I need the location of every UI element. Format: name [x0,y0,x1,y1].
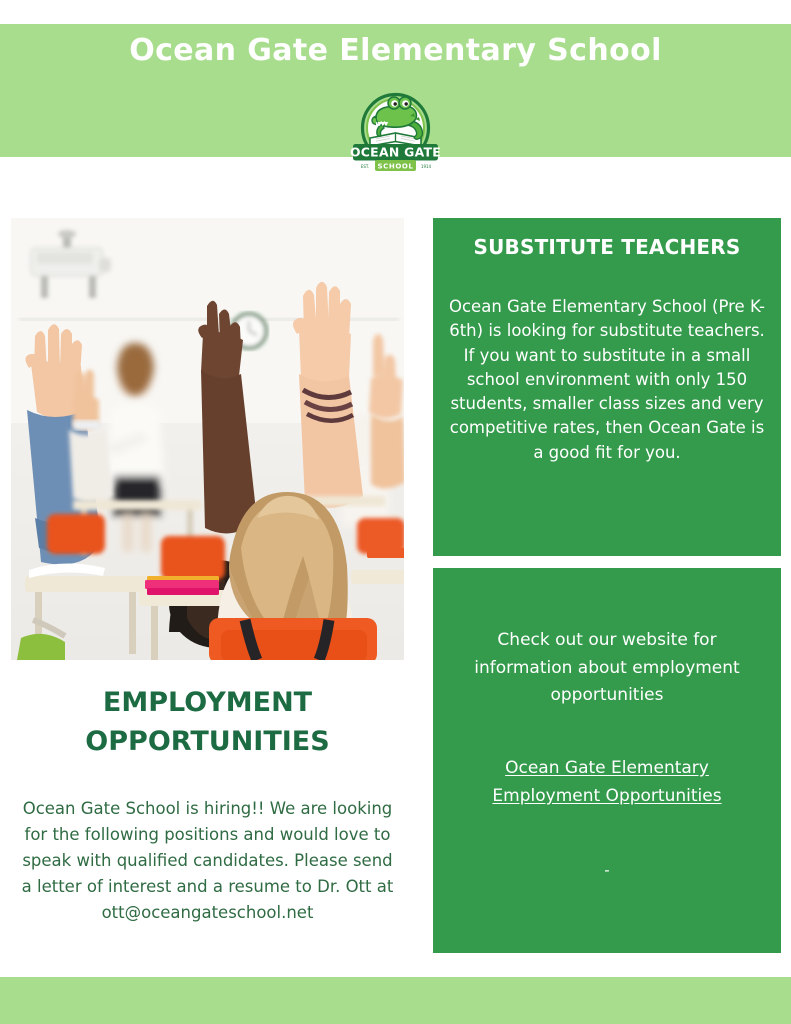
panel-dash-separator: - [433,861,781,879]
website-info-text: Check out our website for information ab… [449,627,765,710]
classroom-photo [11,218,404,660]
flyer-page: Ocean Gate Elementary School [0,0,791,1024]
footer-band [0,977,791,1024]
page-title: Ocean Gate Elementary School [0,34,791,67]
website-info-panel: Check out our website for information ab… [433,568,781,953]
header-band: Ocean Gate Elementary School [0,24,791,157]
employment-opportunities-body: Ocean Gate School is hiring!! We are loo… [16,796,399,926]
svg-text:OCEAN GATE: OCEAN GATE [350,145,441,160]
substitute-teachers-title: SUBSTITUTE TEACHERS [433,235,781,259]
employment-opportunities-heading: EMPLOYMENT OPPORTUNITIES [11,683,404,761]
svg-text:EST.: EST. [361,164,369,169]
employment-opportunities-link[interactable]: Ocean Gate Elementary Employment Opportu… [457,754,757,811]
substitute-teachers-panel: SUBSTITUTE TEACHERS Ocean Gate Elementar… [433,218,781,556]
substitute-teachers-body: Ocean Gate Elementary School (Pre K-6th)… [447,295,767,465]
svg-text:SCHOOL: SCHOOL [378,163,414,171]
svg-text:1914: 1914 [421,164,432,169]
ocean-gate-school-logo: OCEAN GATE SCHOOL EST. 1914 [346,90,445,174]
